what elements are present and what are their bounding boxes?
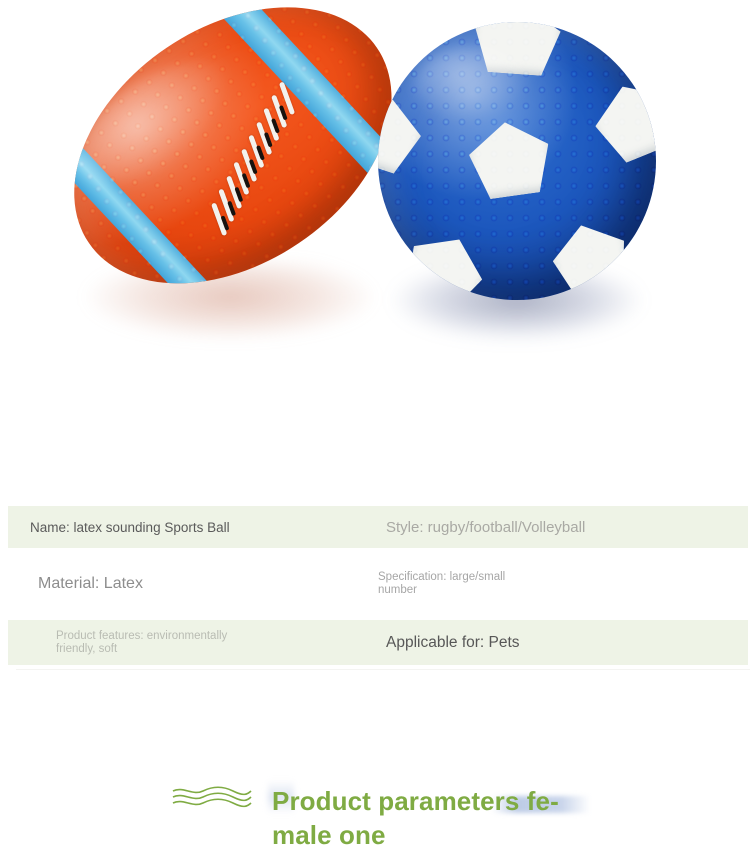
soccer-highlight [414,46,534,122]
product-parameters-table: Name: latex sounding Sports Ball Style: … [8,506,748,665]
param-cell-name: Name: latex sounding Sports Ball [8,520,378,535]
product-hero-image [0,0,750,372]
table-row: Product features: environmentally friend… [8,620,748,665]
param-material-label: Material: Latex [30,575,143,593]
table-row: Material: Latex Specification: large/sma… [8,548,748,620]
page-title-line-1: Product parameters fe- [272,784,572,818]
param-applicable-label: Applicable for: Pets [378,634,520,652]
param-specification-label: Specification: large/small number [378,571,528,597]
page-title-line-2: male one [272,818,572,852]
section-heading-block: Product parameters fe- male one [0,372,750,500]
param-cell-specification: Specification: large/small number [378,571,748,597]
table-row: Name: latex sounding Sports Ball Style: … [8,506,748,548]
param-name-label: Name: latex sounding Sports Ball [30,520,230,535]
param-cell-style: Style: rugby/football/Volleyball [378,519,748,536]
wave-lines-icon [172,786,252,808]
param-cell-features: Product features: environmentally friend… [8,630,378,656]
param-features-label: Product features: environmentally friend… [30,630,256,656]
param-style-label: Style: rugby/football/Volleyball [378,519,585,536]
soccer-ball [378,22,656,300]
param-cell-material: Material: Latex [8,575,378,593]
param-cell-applicable: Applicable for: Pets [378,634,748,652]
page-title: Product parameters fe- male one [272,784,572,852]
table-bottom-divider [16,669,750,670]
